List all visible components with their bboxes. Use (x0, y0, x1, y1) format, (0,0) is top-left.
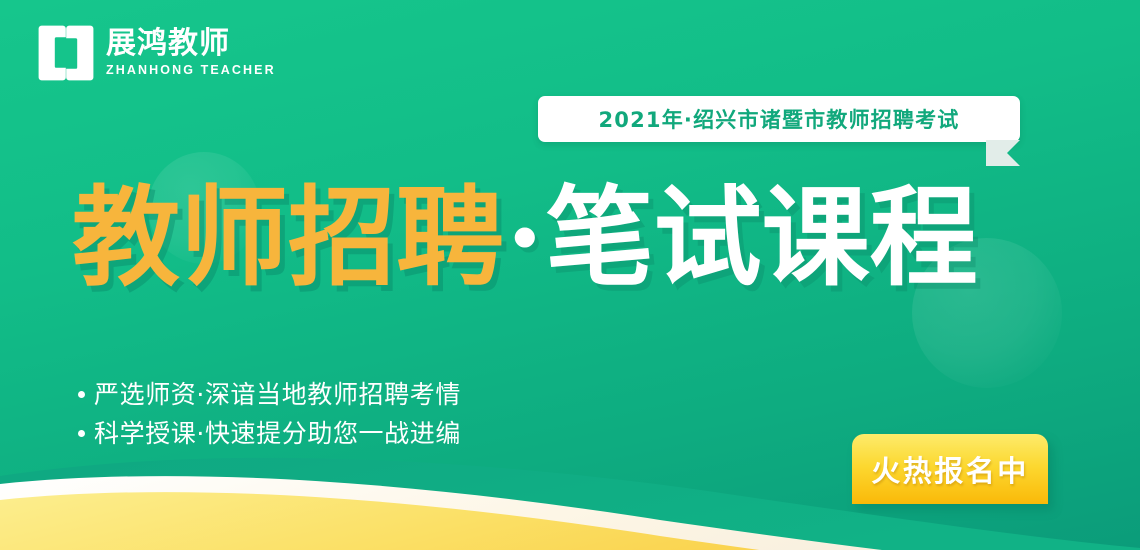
feature-text: 严选师资·深谙当地教师招聘考情 (94, 381, 461, 409)
brand-wordmark: 展鸿教师 ZHANHONG TEACHER (106, 29, 276, 77)
bullet-icon (78, 430, 85, 437)
headline-primary: 教师招聘 (72, 184, 504, 292)
zhanhong-logo-mark-icon (38, 25, 94, 81)
exam-title-text: 2021年·绍兴市诸暨市教师招聘考试 (598, 104, 959, 134)
page-title: 教师招聘 · 笔试课程 (72, 168, 1082, 308)
brand-name-en: ZHANHONG TEACHER (106, 64, 276, 77)
list-item: 科学授课·快速提分助您一战进编 (78, 420, 461, 448)
feature-list: 严选师资·深谙当地教师招聘考情 科学授课·快速提分助您一战进编 (78, 381, 461, 447)
brand-name-cn: 展鸿教师 (106, 29, 276, 59)
exam-title-ribbon: 2021年·绍兴市诸暨市教师招聘考试 (538, 96, 1020, 142)
bullet-icon (78, 391, 85, 398)
list-item: 严选师资·深谙当地教师招聘考情 (78, 381, 461, 409)
brand-logo[interactable]: 展鸿教师 ZHANHONG TEACHER (38, 25, 276, 81)
promo-banner: 展鸿教师 ZHANHONG TEACHER 2021年·绍兴市诸暨市教师招聘考试… (0, 0, 1140, 550)
enroll-now-label: 火热报名中 (871, 448, 1029, 490)
enroll-now-button[interactable]: 火热报名中 (852, 434, 1048, 504)
headline-secondary: 笔试课程 (546, 184, 978, 292)
feature-text: 科学授课·快速提分助您一战进编 (94, 420, 461, 448)
headline-separator: · (504, 184, 546, 292)
